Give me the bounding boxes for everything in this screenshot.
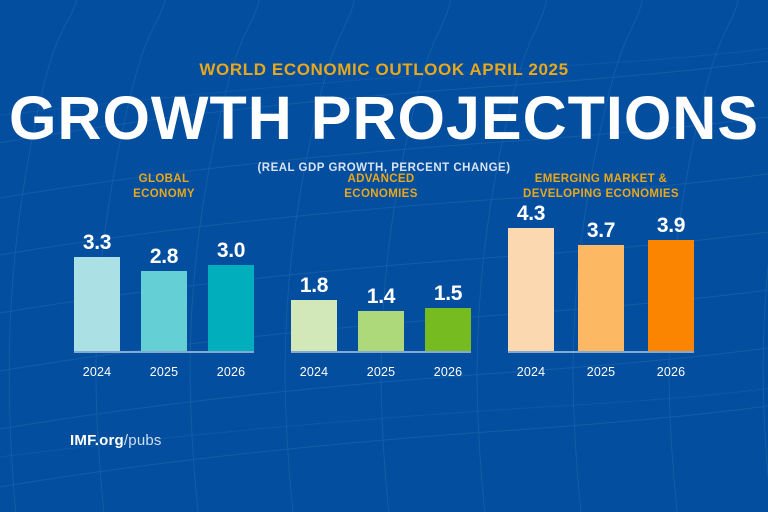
bar-column[interactable]: 4.3: [508, 203, 554, 351]
category-label: 2024: [291, 365, 337, 379]
category-label: 2025: [578, 365, 624, 379]
bar-value-label: 3.3: [83, 232, 111, 253]
bar-column[interactable]: 2.8: [141, 246, 187, 351]
bar-rect[interactable]: [291, 300, 337, 352]
bar-rect[interactable]: [358, 311, 404, 351]
chart-panels: GLOBAL ECONOMY 3.3 2.8 3.0: [0, 172, 768, 402]
axis-baseline: [74, 351, 254, 353]
page-title: GROWTH PROJECTIONS: [0, 88, 768, 149]
category-label: 2024: [508, 365, 554, 379]
category-label: 2024: [74, 365, 120, 379]
footer-url[interactable]: IMF.org/pubs: [70, 432, 162, 449]
panel-title: EMERGING MARKET & DEVELOPING ECONOMIES: [508, 172, 694, 201]
plot-area: 3.3 2.8 3.0 2024 2025 2026: [74, 209, 254, 381]
footer-path: /pubs: [124, 432, 162, 449]
bar-value-label: 1.8: [300, 275, 328, 296]
bar-value-label: 3.0: [217, 240, 245, 261]
category-labels: 2024 2025 2026: [508, 365, 694, 379]
chart-panel-emerging-market-developing-economies: EMERGING MARKET & DEVELOPING ECONOMIES 4…: [508, 172, 694, 381]
footer-brand: IMF.org: [70, 432, 124, 449]
category-label: 2025: [141, 365, 187, 379]
bar-rect[interactable]: [648, 240, 694, 352]
panel-title: GLOBAL ECONOMY: [74, 172, 254, 201]
axis-baseline: [508, 351, 694, 353]
bar-value-label: 1.5: [434, 283, 462, 304]
bar-rect[interactable]: [508, 228, 554, 351]
bar-value-label: 1.4: [367, 286, 395, 307]
bar-column[interactable]: 1.5: [425, 283, 471, 351]
bar-rect[interactable]: [578, 245, 624, 351]
bar-value-label: 2.8: [150, 246, 178, 267]
axis-baseline: [291, 351, 471, 353]
bar-group: 3.3 2.8 3.0: [74, 209, 254, 351]
category-labels: 2024 2025 2026: [291, 365, 471, 379]
bar-value-label: 3.7: [587, 220, 615, 241]
bar-column[interactable]: 1.4: [358, 286, 404, 351]
bar-value-label: 4.3: [517, 203, 545, 224]
bar-column[interactable]: 3.7: [578, 220, 624, 351]
chart-panel-advanced-economies: ADVANCED ECONOMIES 1.8 1.4 1.5: [291, 172, 471, 381]
bar-rect[interactable]: [208, 265, 254, 351]
kicker-text: WORLD ECONOMIC OUTLOOK APRIL 2025: [0, 60, 768, 80]
panel-title: ADVANCED ECONOMIES: [291, 172, 471, 201]
bar-value-label: 3.9: [657, 215, 685, 236]
plot-area: 4.3 3.7 3.9 2024 2025 2026: [508, 209, 694, 381]
plot-area: 1.8 1.4 1.5 2024 2025 2026: [291, 209, 471, 381]
bar-rect[interactable]: [141, 271, 187, 351]
chart-panel-global-economy: GLOBAL ECONOMY 3.3 2.8 3.0: [74, 172, 254, 381]
infographic-root: WORLD ECONOMIC OUTLOOK APRIL 2025 GROWTH…: [0, 0, 768, 512]
bar-column[interactable]: 3.0: [208, 240, 254, 351]
bar-column[interactable]: 1.8: [291, 275, 337, 352]
category-label: 2026: [648, 365, 694, 379]
bar-column[interactable]: 3.3: [74, 232, 120, 352]
bar-group: 1.8 1.4 1.5: [291, 209, 471, 351]
bar-rect[interactable]: [74, 257, 120, 352]
bar-group: 4.3 3.7 3.9: [508, 209, 694, 351]
category-label: 2025: [358, 365, 404, 379]
category-labels: 2024 2025 2026: [74, 365, 254, 379]
category-label: 2026: [208, 365, 254, 379]
category-label: 2026: [425, 365, 471, 379]
bar-column[interactable]: 3.9: [648, 215, 694, 352]
bar-rect[interactable]: [425, 308, 471, 351]
header: WORLD ECONOMIC OUTLOOK APRIL 2025 GROWTH…: [0, 0, 768, 174]
